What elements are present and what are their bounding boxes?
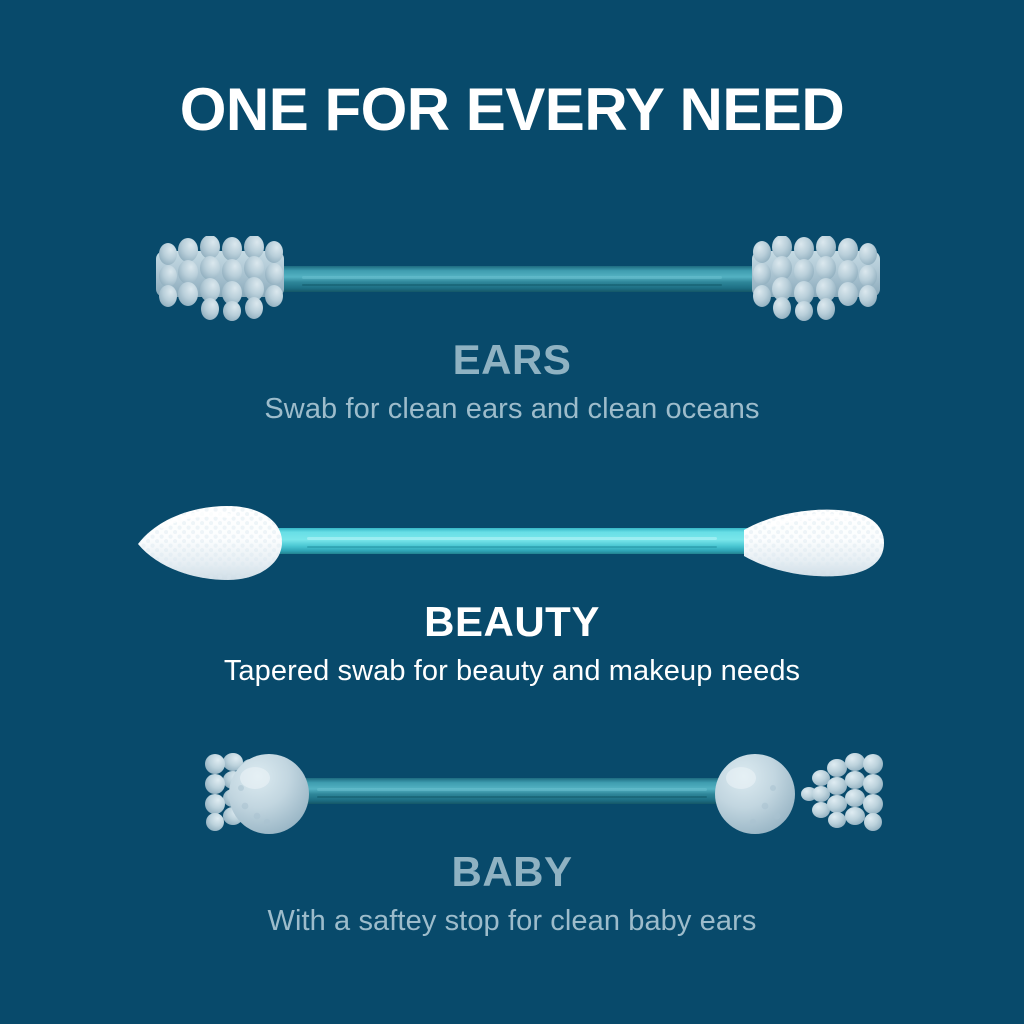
swab-image-beauty — [0, 498, 1024, 590]
product-row-baby: BABY With a saftey stop for clean baby e… — [0, 748, 1024, 939]
tapered-point-swab-icon — [132, 498, 892, 590]
tip-left — [138, 506, 282, 580]
product-row-beauty: BEAUTY Tapered swab for beauty and makeu… — [0, 498, 1024, 689]
page-title: ONE FOR EVERY NEED — [0, 78, 1024, 141]
product-heading-ears: EARS — [0, 338, 1024, 382]
product-heading-beauty: BEAUTY — [0, 600, 1024, 644]
bumpy-cylinder-swab-icon — [132, 236, 892, 328]
product-subtitle-ears: Swab for clean ears and clean oceans — [0, 392, 1024, 427]
tip-right — [744, 510, 884, 577]
swab-image-baby — [0, 748, 1024, 840]
product-row-ears: EARS Swab for clean ears and clean ocean… — [0, 236, 1024, 427]
product-subtitle-beauty: Tapered swab for beauty and makeup needs — [0, 654, 1024, 689]
safety-stop-ball-swab-icon — [117, 748, 907, 840]
infographic-canvas: ONE FOR EVERY NEED — [0, 0, 1024, 1024]
product-subtitle-baby: With a saftey stop for clean baby ears — [0, 904, 1024, 939]
swab-image-ears — [0, 236, 1024, 328]
product-heading-baby: BABY — [0, 850, 1024, 894]
